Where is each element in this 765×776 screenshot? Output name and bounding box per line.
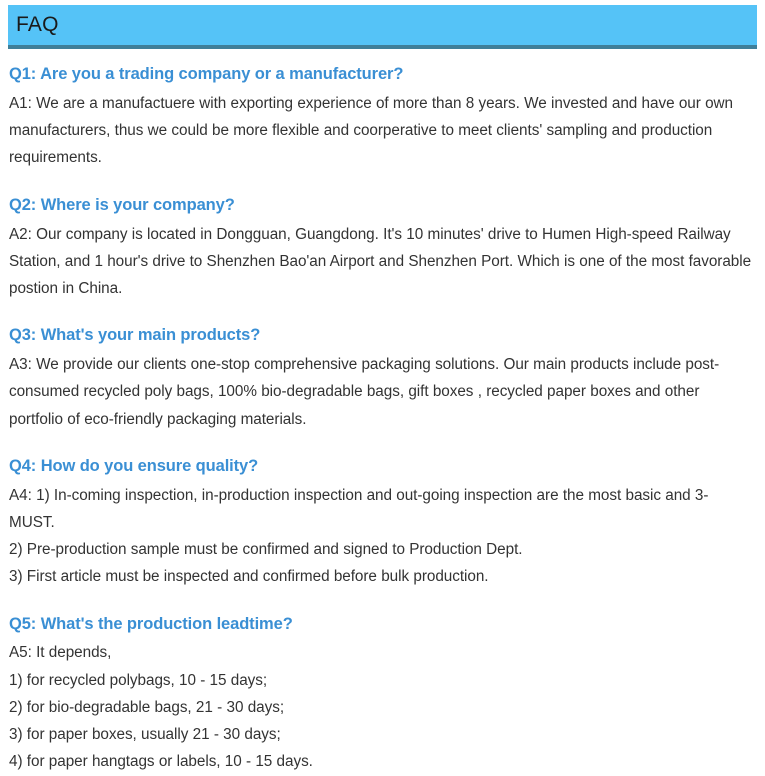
faq-answer-line: 3) First article must be inspected and c… <box>9 563 754 590</box>
faq-item: Q4: How do you ensure quality? A4: 1) In… <box>9 455 754 591</box>
faq-answer-line: A2: Our company is located in Dongguan, … <box>9 221 754 303</box>
faq-answer-line: A1: We are a manufactuere with exporting… <box>9 90 754 172</box>
faq-question: Q3: What's your main products? <box>9 324 754 348</box>
faq-header-banner: FAQ <box>8 5 757 49</box>
faq-answer-line: 3) for paper boxes, usually 21 - 30 days… <box>9 721 754 748</box>
faq-answer: A1: We are a manufactuere with exporting… <box>9 90 754 172</box>
faq-item: Q3: What's your main products? A3: We pr… <box>9 324 754 433</box>
page-title: FAQ <box>16 14 59 35</box>
faq-answer-line: 1) for recycled polybags, 10 - 15 days; <box>9 667 754 694</box>
faq-question: Q4: How do you ensure quality? <box>9 455 754 479</box>
faq-question: Q5: What's the production leadtime? <box>9 613 754 637</box>
faq-answer: A4: 1) In-coming inspection, in-producti… <box>9 482 754 591</box>
faq-item: Q2: Where is your company? A2: Our compa… <box>9 194 754 303</box>
faq-item: Q1: Are you a trading company or a manuf… <box>9 63 754 172</box>
faq-answer: A3: We provide our clients one-stop comp… <box>9 351 754 433</box>
faq-item: Q5: What's the production leadtime? A5: … <box>9 613 754 776</box>
faq-page: FAQ Q1: Are you a trading company or a m… <box>0 0 765 748</box>
faq-answer-line: A3: We provide our clients one-stop comp… <box>9 351 754 433</box>
faq-answer-line: 2) for bio-degradable bags, 21 - 30 days… <box>9 694 754 721</box>
faq-answer-line: 4) for paper hangtags or labels, 10 - 15… <box>9 748 754 775</box>
faq-list: Q1: Are you a trading company or a manuf… <box>9 63 754 776</box>
faq-answer: A5: It depends, 1) for recycled polybags… <box>9 639 754 775</box>
faq-question: Q1: Are you a trading company or a manuf… <box>9 63 754 87</box>
faq-answer-line: A4: 1) In-coming inspection, in-producti… <box>9 482 754 536</box>
faq-answer: A2: Our company is located in Dongguan, … <box>9 221 754 303</box>
faq-question: Q2: Where is your company? <box>9 194 754 218</box>
faq-answer-line: 2) Pre-production sample must be confirm… <box>9 536 754 563</box>
faq-answer-line: A5: It depends, <box>9 639 754 666</box>
